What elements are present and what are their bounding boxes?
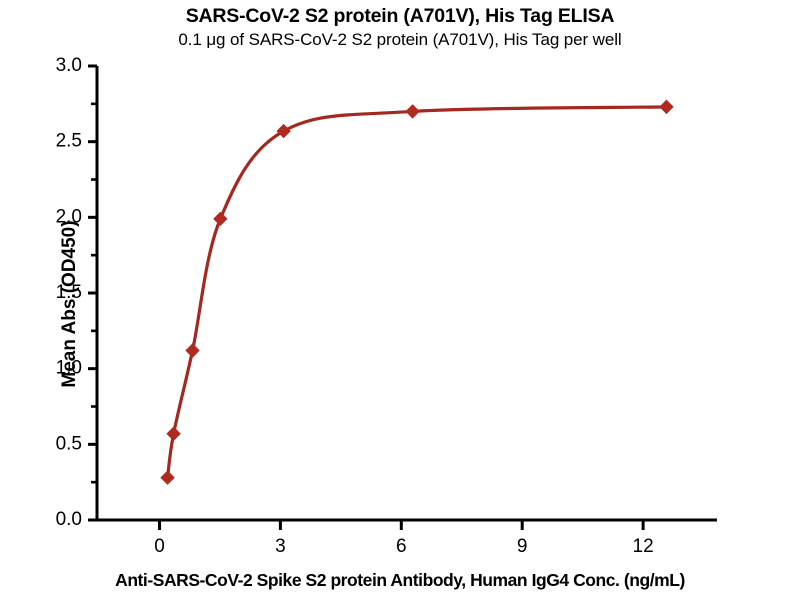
x-tick-label: 9 <box>517 536 528 557</box>
x-tick-label: 6 <box>396 536 407 557</box>
data-series-markers <box>160 100 673 485</box>
y-tick-label: 1.0 <box>56 358 82 379</box>
elisa-chart-figure: SARS-CoV-2 S2 protein (A701V), His Tag E… <box>0 0 800 600</box>
y-tick-label: 2.5 <box>56 131 82 152</box>
data-series-line <box>168 107 667 478</box>
x-axis-ticks: 036912 <box>154 520 653 557</box>
x-tick-label: 0 <box>154 536 165 557</box>
x-tick-label: 12 <box>633 536 654 557</box>
y-tick-label: 0.5 <box>56 433 82 454</box>
data-point-marker <box>213 212 227 226</box>
y-tick-label: 3.0 <box>56 55 82 76</box>
data-point-marker <box>160 470 174 484</box>
y-tick-label: 0.0 <box>56 509 82 530</box>
data-point-marker <box>166 427 180 441</box>
plot-area: 0.00.51.01.52.02.53.0 036912 <box>0 0 800 600</box>
y-tick-label: 2.0 <box>56 206 82 227</box>
data-point-marker <box>185 343 199 357</box>
x-tick-label: 3 <box>275 536 286 557</box>
data-point-marker <box>659 100 673 114</box>
data-point-marker <box>405 104 419 118</box>
data-point-marker <box>276 124 290 138</box>
axis-lines <box>97 66 717 520</box>
y-tick-label: 1.5 <box>56 282 82 303</box>
y-axis-ticks: 0.00.51.01.52.02.53.0 <box>56 55 97 530</box>
